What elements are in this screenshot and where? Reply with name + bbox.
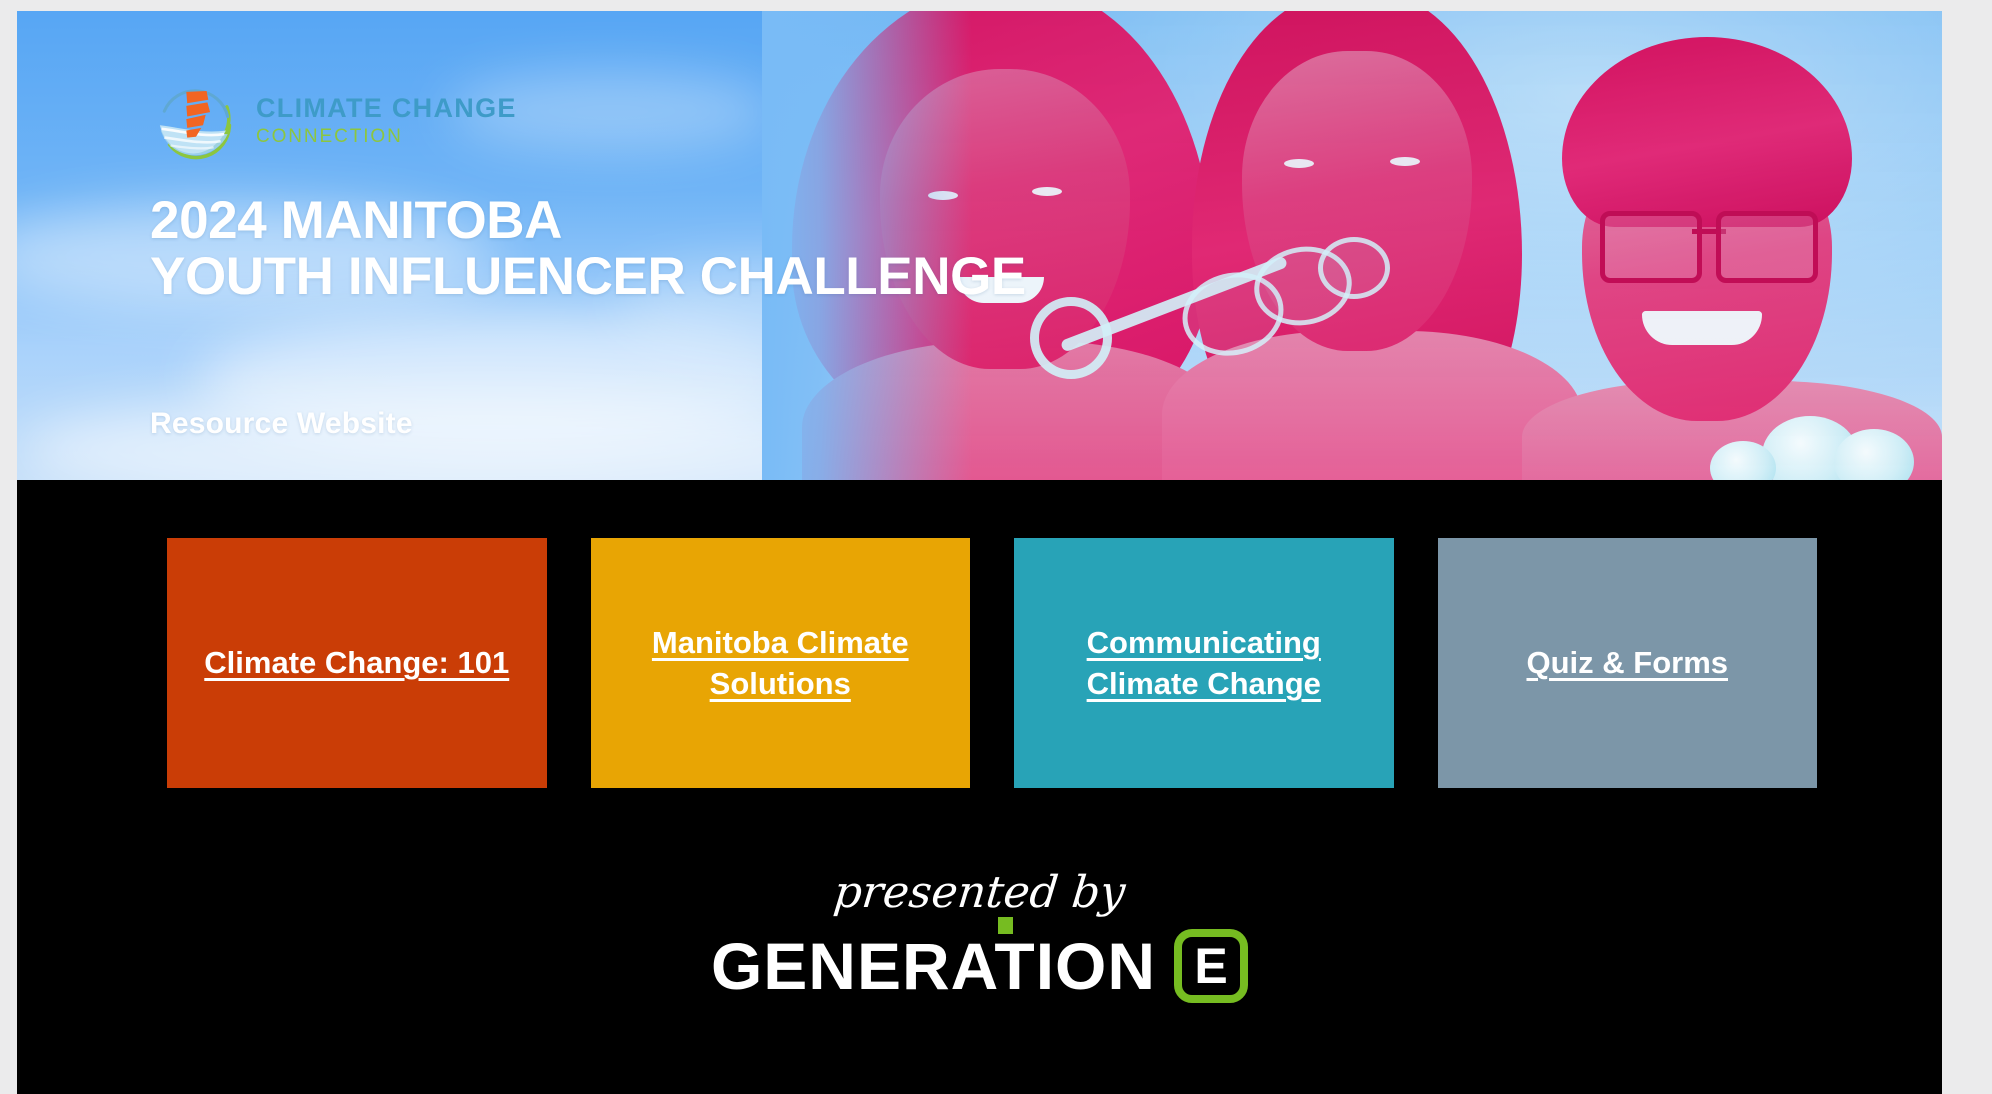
hero-banner: CLIMATE CHANGE CONNECTION 2024 MANITOBA … <box>17 11 1942 480</box>
page-title: 2024 MANITOBA YOUTH INFLUENCER CHALLENGE <box>150 193 1026 305</box>
generation-i-dot-accent <box>998 917 1013 934</box>
page-content: CLIMATE CHANGE CONNECTION 2024 MANITOBA … <box>17 11 1942 1094</box>
nav-tile-communicating-climate-change[interactable]: Communicating Climate Change <box>1014 538 1394 788</box>
section-nav-tiles: Climate Change: 101 Manitoba Climate Sol… <box>167 538 1817 788</box>
nav-tile-label[interactable]: Communicating Climate Change <box>1032 622 1376 704</box>
site-logo[interactable]: CLIMATE CHANGE CONNECTION <box>152 76 517 164</box>
nav-tile-manitoba-climate-solutions[interactable]: Manitoba Climate Solutions <box>591 538 971 788</box>
generation-e-logo[interactable]: GENERATION E <box>17 929 1942 1003</box>
generation-wordmark-text: GENERATION <box>711 929 1156 1003</box>
nav-tile-label[interactable]: Climate Change: 101 <box>204 642 509 683</box>
page-root: CLIMATE CHANGE CONNECTION 2024 MANITOBA … <box>0 0 1992 1094</box>
logo-line-connection: CONNECTION <box>256 127 517 146</box>
logo-line-climate-change: CLIMATE CHANGE <box>256 95 517 122</box>
nav-tile-climate-change-101[interactable]: Climate Change: 101 <box>167 538 547 788</box>
generation-e-badge-letter: E <box>1194 941 1227 991</box>
logo-wordmark: CLIMATE CHANGE CONNECTION <box>256 95 517 146</box>
page-subtitle: Resource Website <box>150 407 413 441</box>
footer: presented by GENERATION E <box>17 851 1942 1081</box>
generation-e-badge: E <box>1174 929 1248 1003</box>
presented-by-text: presented by <box>17 867 1942 918</box>
nav-tile-quiz-and-forms[interactable]: Quiz & Forms <box>1438 538 1818 788</box>
climate-change-connection-logo-mark <box>152 76 240 164</box>
nav-tile-label[interactable]: Manitoba Climate Solutions <box>609 622 953 704</box>
generation-wordmark: GENERATION <box>711 933 1156 999</box>
nav-tile-label[interactable]: Quiz & Forms <box>1526 642 1728 683</box>
